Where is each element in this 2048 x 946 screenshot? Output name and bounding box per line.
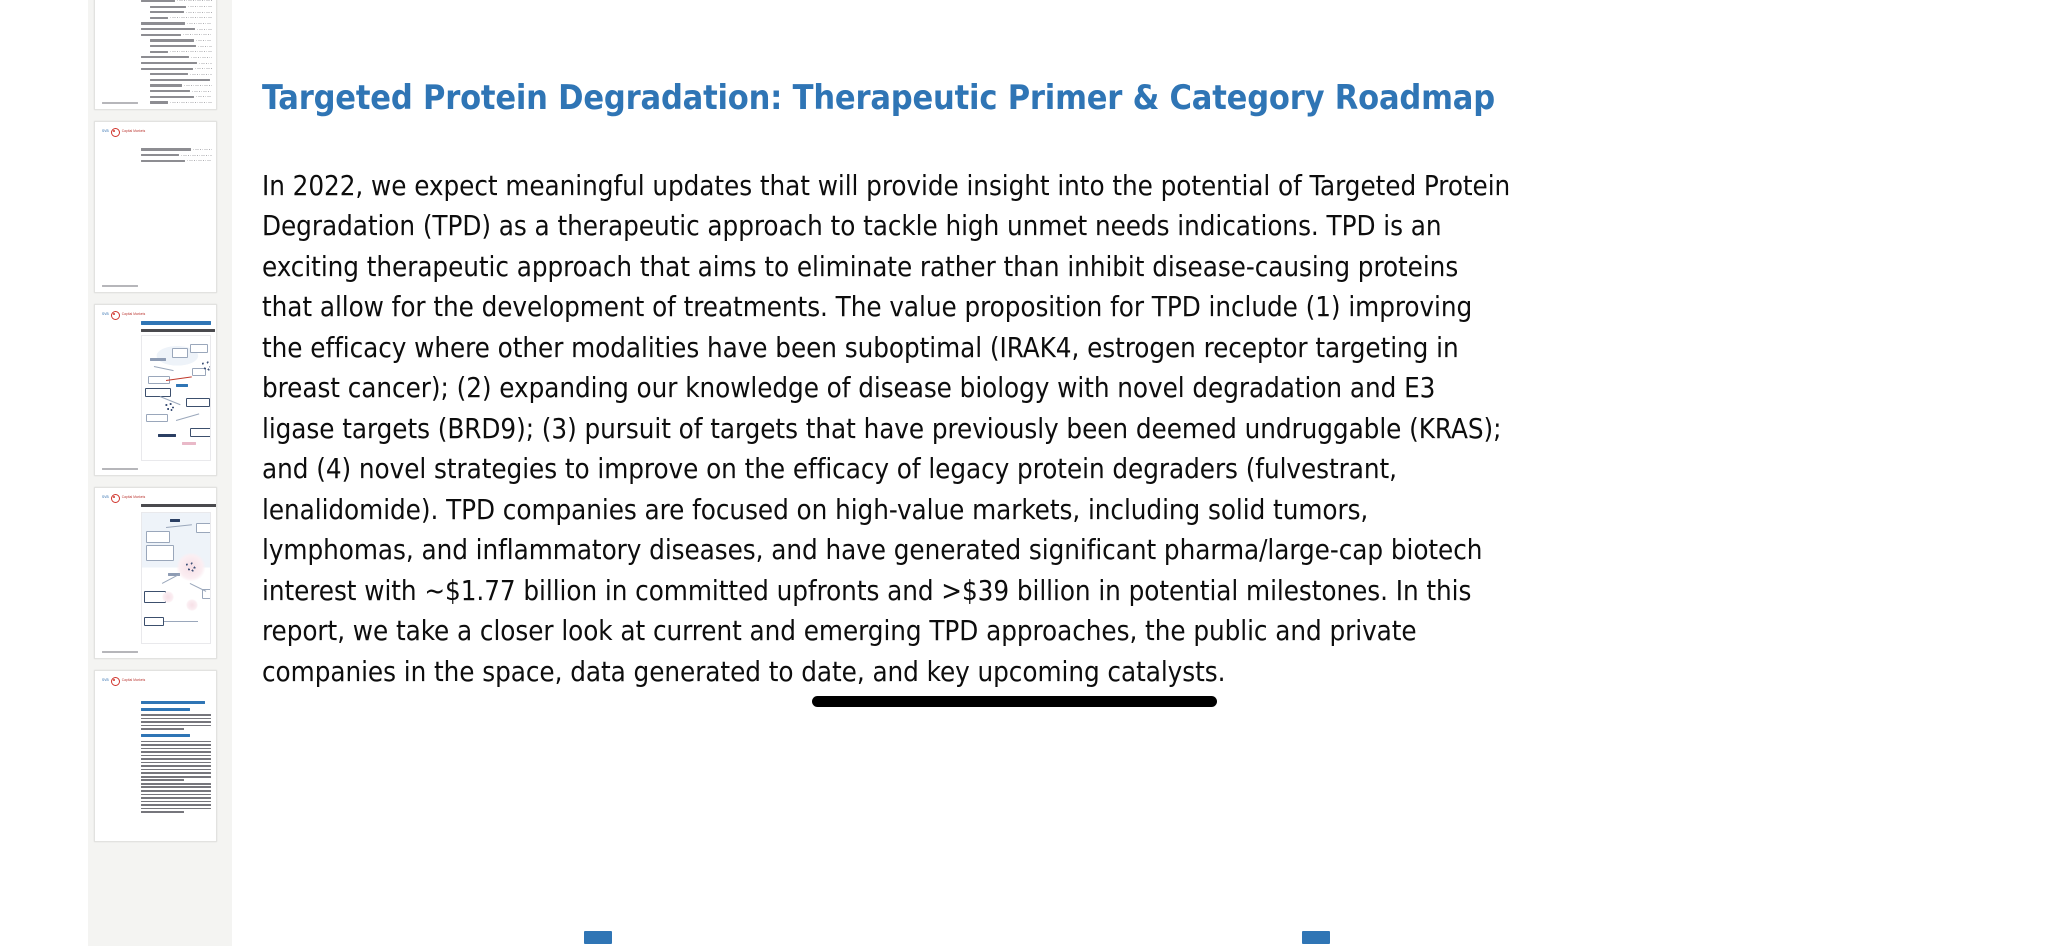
left-gutter (0, 0, 88, 946)
brand-name-left: SVB (102, 679, 109, 682)
thumbnail-sidebar[interactable]: SVB Capital Markets SVB Capital Markets (88, 0, 232, 946)
document-page: Targeted Protein Degradation: Therapeuti… (262, 0, 2048, 946)
thumbnail-page-2[interactable]: SVB Capital Markets (94, 121, 217, 293)
thumbnail-page-1[interactable] (94, 0, 217, 110)
red-roundel-logo-icon (111, 677, 120, 686)
thumbnail-page-5[interactable]: SVB Capital Markets (94, 670, 217, 842)
next-heading-bar-2 (1302, 931, 1330, 944)
thumbnail-text-block-5 (141, 701, 211, 835)
thumbnail-brand-3: SVB Capital Markets (102, 311, 145, 319)
page-title: Targeted Protein Degradation: Therapeuti… (262, 77, 1495, 119)
brand-name-left: SVB (102, 496, 109, 499)
brand-name-right: Capital Markets (122, 496, 146, 499)
degradation-modality-diagram (141, 335, 211, 461)
thumbnail-brand-4: SVB Capital Markets (102, 494, 145, 502)
brand-name-left: SVB (102, 313, 109, 316)
red-roundel-logo-icon (111, 494, 120, 503)
thumbnail-strip[interactable]: SVB Capital Markets SVB Capital Markets (94, 0, 217, 853)
thumbnail-footer-4 (102, 651, 138, 653)
document-pane[interactable]: Targeted Protein Degradation: Therapeuti… (232, 0, 2048, 946)
brand-name-right: Capital Markets (122, 679, 146, 682)
next-section-heading-preview (262, 922, 1512, 946)
lysosomal-pathway-diagram (141, 512, 211, 644)
red-roundel-logo-icon (111, 128, 120, 137)
brand-name-right: Capital Markets (122, 313, 146, 316)
thumbnail-footer-1 (102, 102, 138, 104)
thumbnail-page-4[interactable]: SVB Capital Markets (94, 487, 217, 659)
thumbnail-exhibit-label-3 (141, 329, 215, 332)
brand-name-left: SVB (102, 130, 109, 133)
thumbnail-exhibit-label-4 (141, 504, 217, 507)
thumbnail-page-3[interactable]: SVB Capital Markets (94, 304, 217, 476)
brand-name-right: Capital Markets (122, 130, 146, 133)
thumbnail-brand-2: SVB Capital Markets (102, 128, 145, 136)
next-heading-bar-1 (584, 931, 612, 944)
red-roundel-logo-icon (111, 311, 120, 320)
thumbnail-footer-2 (102, 285, 138, 287)
thumbnail-footer-3 (102, 468, 138, 470)
toc-lines-2 (141, 148, 212, 165)
thumbnail-heading-3 (141, 321, 211, 325)
horizontal-scrollbar[interactable] (812, 696, 1217, 707)
toc-lines-1 (141, 0, 212, 107)
page-body-paragraph: In 2022, we expect meaningful updates th… (262, 166, 1512, 693)
pdf-viewer: SVB Capital Markets SVB Capital Markets (0, 0, 2048, 946)
thumbnail-brand-5: SVB Capital Markets (102, 677, 145, 685)
